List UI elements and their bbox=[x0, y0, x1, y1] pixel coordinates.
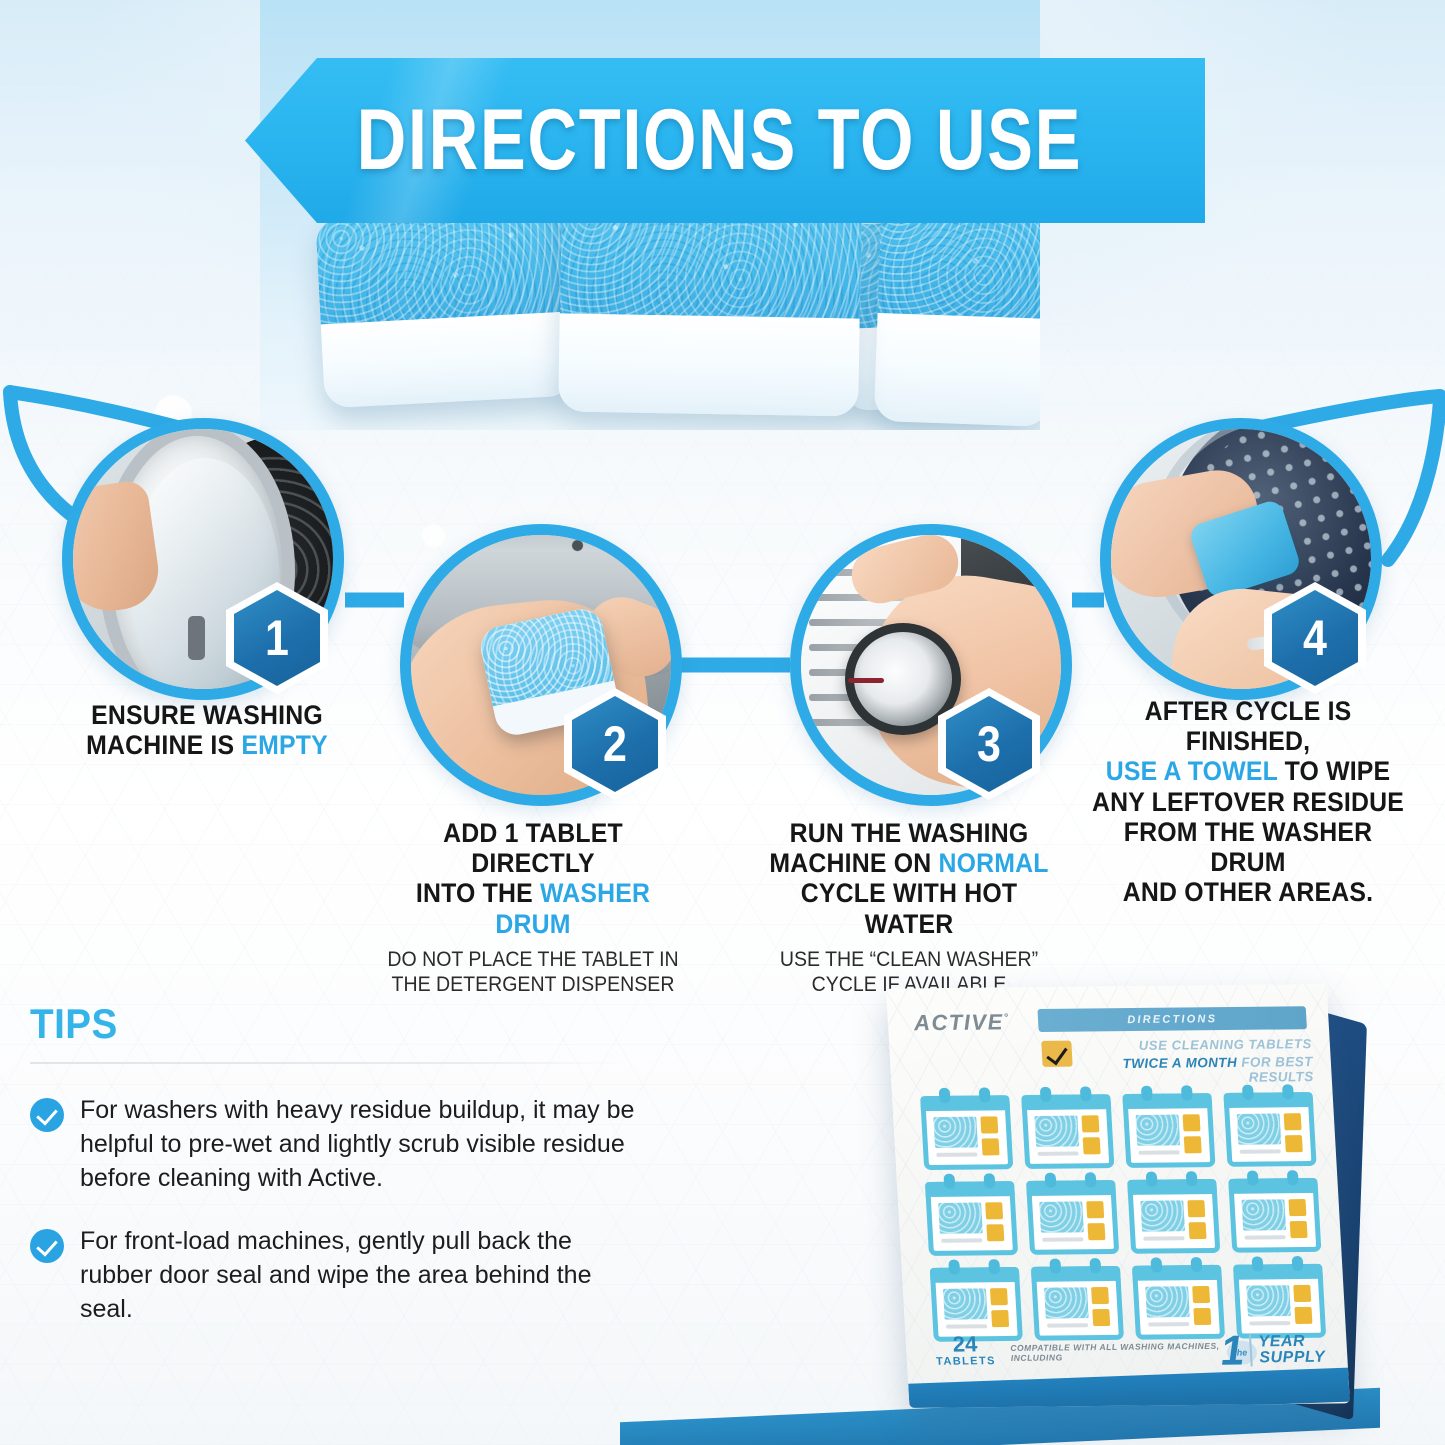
checkbox-icon bbox=[1041, 1041, 1072, 1067]
tip-text-1: For washers with heavy residue buildup, … bbox=[80, 1094, 640, 1195]
supply-duration: 1 YEAR SUPPLY bbox=[1220, 1332, 1326, 1369]
box-directions-bold: TWICE A MONTH bbox=[1122, 1055, 1237, 1071]
step-1-line1: ENSURE WASHING bbox=[61, 700, 354, 730]
step-1-line2-prefix: MACHINE IS bbox=[86, 730, 241, 760]
tip-item: For washers with heavy residue buildup, … bbox=[30, 1094, 670, 1195]
supply-supply-label: SUPPLY bbox=[1259, 1350, 1326, 1367]
step-3-number: 3 bbox=[977, 715, 1001, 773]
step-4-number-badge: 4 bbox=[1272, 590, 1358, 686]
tablet-1 bbox=[315, 206, 575, 409]
brand-mark: ° bbox=[1003, 1012, 1010, 1024]
tablet-count-label: TABLETS bbox=[935, 1355, 998, 1368]
step-1-number-badge: 1 bbox=[234, 590, 320, 686]
product-box: ACTIVE° DIRECTIONS USE CLEANING TABLETS … bbox=[880, 980, 1440, 1445]
calendar-icon bbox=[1122, 1093, 1215, 1168]
step-3-highlight: NORMAL bbox=[938, 848, 1048, 878]
step-4-line5: AND OTHER AREAS. bbox=[1092, 877, 1405, 907]
step-3-line2-prefix: MACHINE ON bbox=[769, 848, 938, 878]
calendar-icon bbox=[1127, 1179, 1220, 1254]
step-3-line1: RUN THE WASHING bbox=[761, 818, 1057, 848]
step-4-line4: FROM THE WASHER DRUM bbox=[1092, 817, 1405, 877]
check-circle-icon bbox=[30, 1098, 64, 1132]
step-2-line1: ADD 1 TABLET DIRECTLY bbox=[381, 818, 685, 878]
step-2-number-badge: 2 bbox=[572, 696, 658, 792]
supply-number: 1 bbox=[1220, 1333, 1245, 1369]
calendar-icon-grid bbox=[920, 1092, 1326, 1342]
page-title: DIRECTIONS TO USE bbox=[341, 58, 1109, 223]
tips-section: TIPS For washers with heavy residue buil… bbox=[30, 1000, 670, 1327]
step-4-number: 4 bbox=[1303, 609, 1327, 667]
calendar-icon bbox=[1031, 1266, 1124, 1341]
step-1-caption: ENSURE WASHING MACHINE IS EMPTY bbox=[48, 700, 366, 760]
box-directions-bar: DIRECTIONS bbox=[1037, 1006, 1307, 1032]
calendar-icon bbox=[1021, 1094, 1114, 1169]
box-directions-line1: USE CLEANING TABLETS bbox=[1081, 1036, 1312, 1053]
tablet-2 bbox=[558, 189, 862, 416]
step-4-caption: AFTER CYCLE IS FINISHED, USE A TOWEL TO … bbox=[1078, 696, 1418, 908]
step-2-caption: ADD 1 TABLET DIRECTLY INTO THE WASHER DR… bbox=[368, 818, 698, 997]
box-directions-line2: TWICE A MONTH FOR BEST RESULTS bbox=[1076, 1054, 1314, 1086]
step-4-line3: ANY LEFTOVER RESIDUE bbox=[1092, 787, 1405, 817]
check-circle-icon bbox=[30, 1229, 64, 1263]
brand-logo: ACTIVE° bbox=[913, 1009, 1010, 1036]
step-2-line2-prefix: INTO THE bbox=[416, 878, 540, 908]
infographic-canvas: DIRECTIONS TO USE 1 ENSURE WASHING MACHI… bbox=[0, 0, 1445, 1445]
brand-name: ACTIVE bbox=[913, 1009, 1004, 1035]
calendar-icon bbox=[1233, 1264, 1326, 1339]
tablet-count: 24 TABLETS bbox=[933, 1333, 997, 1368]
box-directions-label: DIRECTIONS bbox=[1127, 1013, 1218, 1026]
step-3-number-badge: 3 bbox=[946, 696, 1032, 792]
box-bottom-band bbox=[908, 1368, 1350, 1408]
calendar-icon bbox=[1223, 1092, 1316, 1167]
step-2-subcaption: DO NOT PLACE THE TABLET IN THE DETERGENT… bbox=[380, 948, 687, 998]
step-3-line3: CYCLE WITH HOT WATER bbox=[761, 878, 1057, 938]
calendar-icon bbox=[1132, 1265, 1225, 1340]
box-compatibility-text: COMPATIBLE WITH ALL WASHING MACHINES, IN… bbox=[1010, 1341, 1243, 1363]
step-3-caption: RUN THE WASHING MACHINE ON NORMAL CYCLE … bbox=[748, 818, 1070, 997]
calendar-icon bbox=[920, 1095, 1013, 1170]
tips-heading: TIPS bbox=[30, 1000, 619, 1048]
calendar-icon bbox=[925, 1181, 1018, 1256]
calendar-icon bbox=[1228, 1178, 1321, 1253]
step-4-highlight: USE A TOWEL bbox=[1106, 756, 1278, 786]
tablet-count-number: 24 bbox=[933, 1333, 996, 1356]
tips-divider bbox=[30, 1062, 630, 1064]
box-directions-rest: FOR BEST RESULTS bbox=[1237, 1054, 1314, 1085]
step-2-number: 2 bbox=[603, 715, 627, 773]
step-4-line1: AFTER CYCLE IS FINISHED, bbox=[1092, 696, 1405, 756]
tip-text-2: For front-load machines, gently pull bac… bbox=[80, 1225, 640, 1326]
box-front-panel: ACTIVE° DIRECTIONS USE CLEANING TABLETS … bbox=[886, 984, 1350, 1408]
step-4-line2-suffix: TO WIPE bbox=[1277, 756, 1390, 786]
calendar-icon bbox=[1026, 1180, 1119, 1255]
tip-item: For front-load machines, gently pull bac… bbox=[30, 1225, 670, 1326]
step-1-number: 1 bbox=[265, 609, 289, 667]
title-banner: DIRECTIONS TO USE bbox=[245, 58, 1205, 223]
step-1-highlight: EMPTY bbox=[241, 730, 327, 760]
